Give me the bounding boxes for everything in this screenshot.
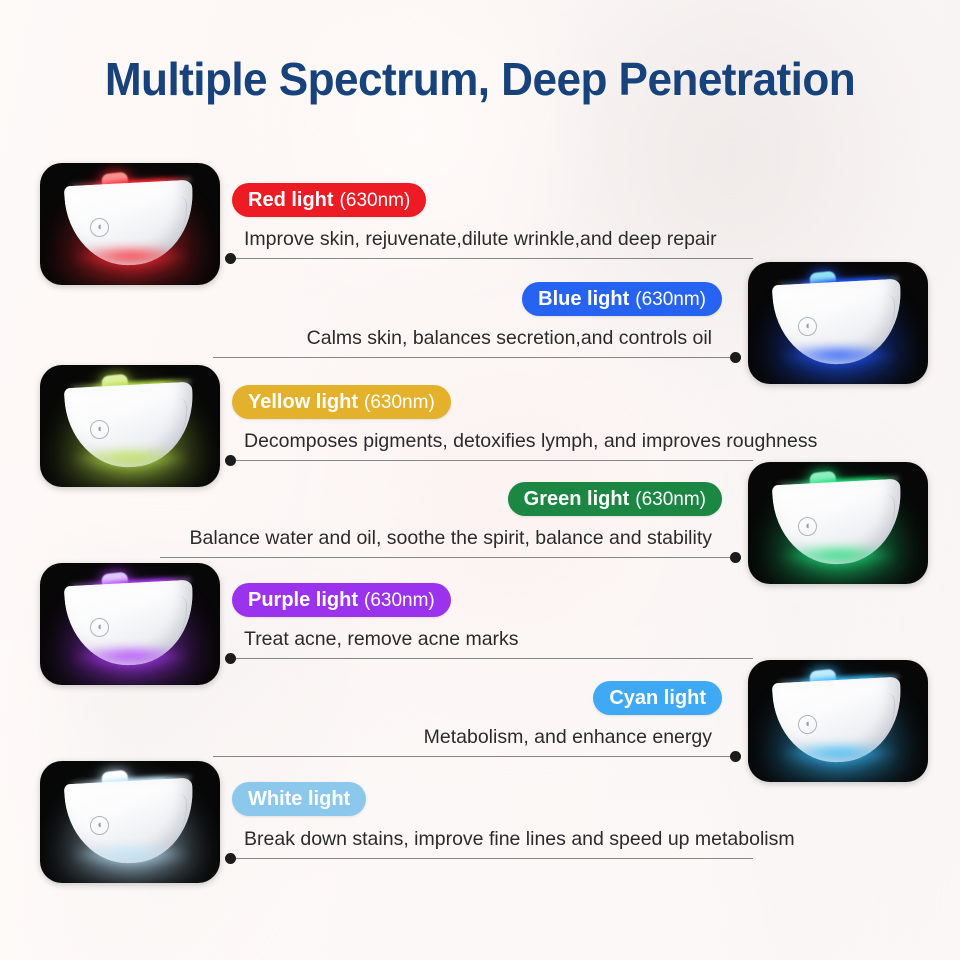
- light-pill-blue: Blue light(630nm): [522, 282, 722, 316]
- connector-bar: [225, 858, 753, 859]
- light-name-purple: Purple light: [248, 590, 358, 610]
- light-pill-white: White light: [232, 782, 366, 816]
- connector-dot: [225, 455, 236, 466]
- connector-rule-white: [225, 853, 753, 864]
- power-button-icon: ◖: [90, 218, 109, 237]
- light-description-purple: Treat acne, remove acne marks: [244, 628, 519, 651]
- light-description-blue: Calms skin, balances secretion,and contr…: [307, 327, 712, 350]
- power-button-icon: ◖: [90, 618, 109, 637]
- connector-rule-red: [225, 253, 753, 264]
- device-bottom-glow: [70, 451, 190, 469]
- connector-bar: [213, 756, 741, 757]
- connector-rule-yellow: [225, 455, 753, 466]
- device-bottom-glow: [70, 847, 190, 865]
- device-thumbnail-yellow: ◖: [40, 365, 220, 487]
- connector-bar: [225, 658, 753, 659]
- light-name-white: White light: [248, 789, 350, 809]
- light-pill-purple: Purple light(630nm): [232, 583, 451, 617]
- device-thumbnail-white: ◖: [40, 761, 220, 883]
- light-pill-yellow: Yellow light(630nm): [232, 385, 451, 419]
- light-description-white: Break down stains, improve fine lines an…: [244, 828, 795, 851]
- connector-rule-green: [160, 552, 741, 563]
- device-thumbnail-green: ◖: [748, 462, 928, 584]
- connector-bar: [160, 557, 741, 558]
- light-pill-cyan: Cyan light: [593, 681, 722, 715]
- device-bottom-glow: [778, 348, 898, 366]
- light-wavelength-yellow: (630nm): [364, 393, 435, 412]
- power-button-icon: ◖: [798, 317, 817, 336]
- light-wavelength-green: (630nm): [635, 490, 706, 509]
- connector-bar: [225, 258, 753, 259]
- light-name-yellow: Yellow light: [248, 392, 358, 412]
- power-button-icon: ◖: [90, 420, 109, 439]
- connector-dot: [730, 751, 741, 762]
- device-thumbnail-cyan: ◖: [748, 660, 928, 782]
- light-name-red: Red light: [248, 190, 334, 210]
- light-name-cyan: Cyan light: [609, 688, 706, 708]
- connector-rule-cyan: [213, 751, 741, 762]
- connector-dot: [225, 653, 236, 664]
- connector-dot: [730, 552, 741, 563]
- power-button-icon: ◖: [798, 517, 817, 536]
- device-thumbnail-red: ◖: [40, 163, 220, 285]
- connector-bar: [225, 460, 753, 461]
- connector-dot: [225, 853, 236, 864]
- light-description-green: Balance water and oil, soothe the spirit…: [190, 527, 712, 550]
- light-wavelength-blue: (630nm): [635, 290, 706, 309]
- power-button-icon: ◖: [798, 715, 817, 734]
- device-bottom-glow: [70, 249, 190, 267]
- light-description-cyan: Metabolism, and enhance energy: [424, 726, 712, 749]
- connector-rule-blue: [213, 352, 741, 363]
- light-pill-red: Red light(630nm): [232, 183, 426, 217]
- device-thumbnail-blue: ◖: [748, 262, 928, 384]
- light-name-blue: Blue light: [538, 289, 629, 309]
- device-thumbnail-purple: ◖: [40, 563, 220, 685]
- light-description-yellow: Decomposes pigments, detoxifies lymph, a…: [244, 430, 817, 453]
- light-name-green: Green light: [524, 489, 630, 509]
- power-button-icon: ◖: [90, 816, 109, 835]
- light-wavelength-purple: (630nm): [364, 591, 435, 610]
- connector-bar: [213, 357, 741, 358]
- connector-dot: [225, 253, 236, 264]
- light-pill-green: Green light(630nm): [508, 482, 722, 516]
- device-bottom-glow: [70, 649, 190, 667]
- connector-rule-purple: [225, 653, 753, 664]
- device-bottom-glow: [778, 548, 898, 566]
- device-bottom-glow: [778, 746, 898, 764]
- light-wavelength-red: (630nm): [340, 191, 411, 210]
- light-description-red: Improve skin, rejuvenate,dilute wrinkle,…: [244, 228, 717, 251]
- connector-dot: [730, 352, 741, 363]
- page-title: Multiple Spectrum, Deep Penetration: [19, 52, 941, 106]
